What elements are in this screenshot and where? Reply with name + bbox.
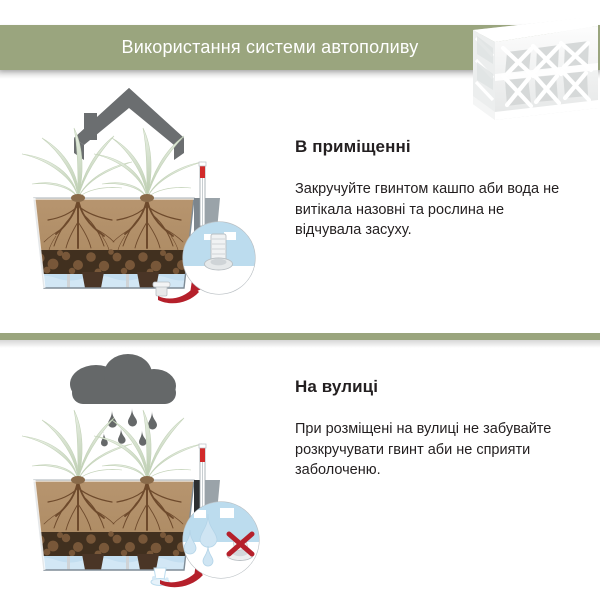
illustration-indoor — [8, 82, 270, 307]
section-heading-indoor: В приміщенні — [295, 137, 560, 157]
section-heading-outdoor: На вулиці — [295, 377, 565, 397]
section-body-outdoor: При розміщені на вулиці не забувайте роз… — [295, 419, 565, 481]
illustration-outdoor — [8, 352, 276, 590]
section-body-indoor: Закручуйте гвинтом кашпо аби вода не вит… — [295, 179, 560, 241]
section-divider — [0, 333, 600, 340]
page-title: Використання системи автополиву — [122, 37, 419, 58]
plant-foliage-left — [22, 128, 132, 198]
rain-cloud-icon — [70, 354, 176, 404]
screw-plug-external — [153, 282, 170, 296]
product-planter-photo — [455, 8, 600, 143]
planter-cross-section-outdoor-svg — [8, 352, 276, 590]
lattice-planter-icon — [455, 8, 600, 143]
inset-screw-removed — [183, 502, 259, 582]
infographic-page: Використання системи автополиву — [0, 0, 600, 600]
house-roof-icon — [74, 88, 184, 160]
planter-cross-section-indoor-svg — [8, 82, 270, 307]
section-divider-shadow — [0, 340, 600, 348]
text-block-outdoor: На вулиці При розміщені на вулиці не заб… — [295, 377, 565, 481]
text-block-indoor: В приміщенні Закручуйте гвинтом кашпо аб… — [295, 137, 560, 241]
